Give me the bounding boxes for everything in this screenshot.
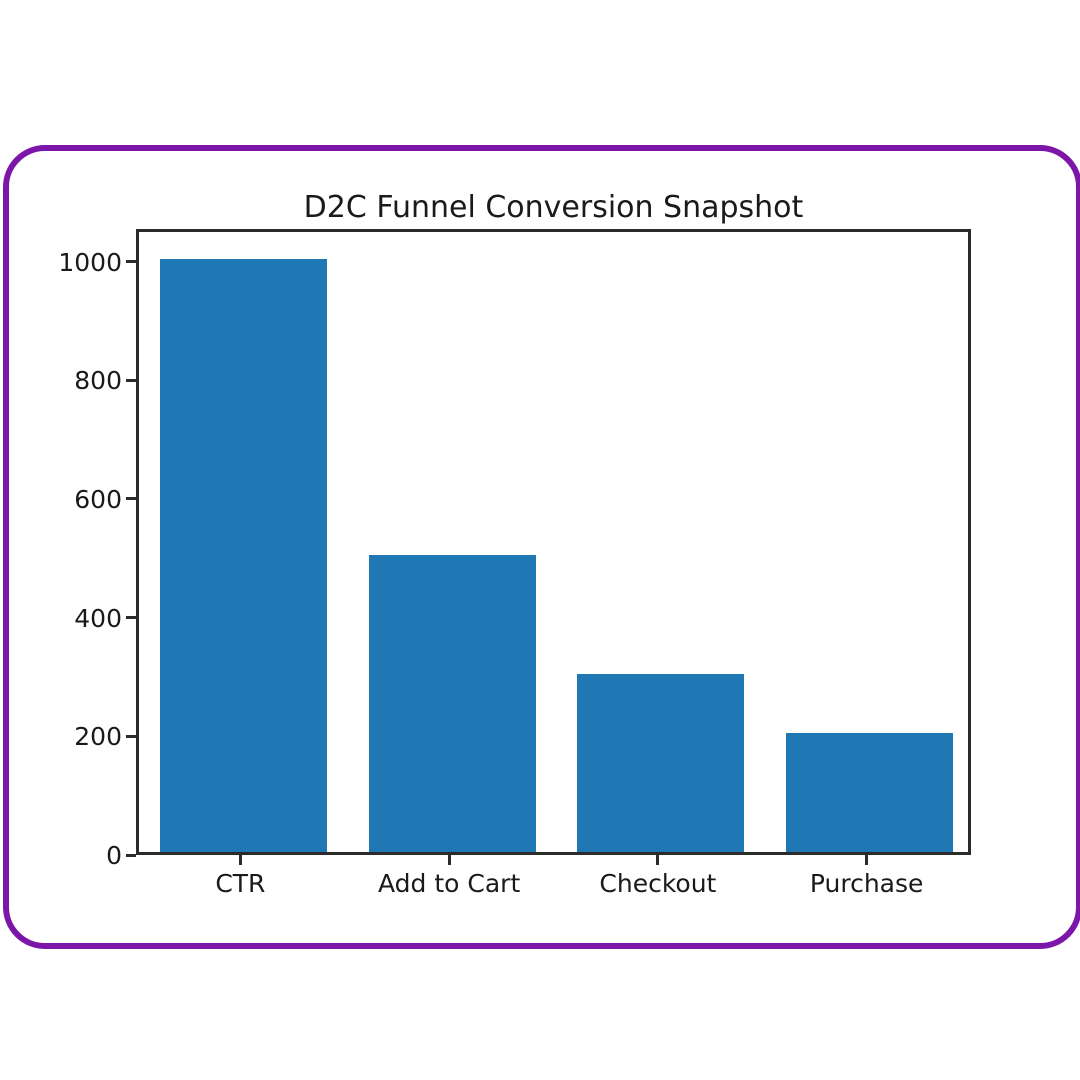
y-axis-tick-mark bbox=[126, 497, 136, 500]
bar bbox=[369, 555, 536, 852]
plot-area bbox=[139, 232, 968, 852]
y-axis-tick-label: 400 bbox=[74, 606, 122, 631]
y-axis-tick-label: 600 bbox=[74, 487, 122, 512]
bar bbox=[160, 259, 327, 852]
y-axis-tick-label: 800 bbox=[74, 368, 122, 393]
y-axis-tick-label: 0 bbox=[106, 843, 122, 868]
x-axis-tick-label: Checkout bbox=[599, 871, 716, 896]
x-axis-tick-mark bbox=[656, 855, 659, 865]
chart-title: D2C Funnel Conversion Snapshot bbox=[136, 190, 971, 225]
x-axis-tick-label: CTR bbox=[215, 871, 265, 896]
x-axis-tick-label: Add to Cart bbox=[378, 871, 520, 896]
bar-chart-figure: D2C Funnel Conversion Snapshot 020040060… bbox=[0, 0, 1080, 1080]
x-axis-tick-mark bbox=[239, 855, 242, 865]
x-axis-tick-mark bbox=[448, 855, 451, 865]
bar bbox=[577, 674, 744, 852]
y-axis-tick-label: 1000 bbox=[58, 250, 122, 275]
y-axis-tick-mark bbox=[126, 260, 136, 263]
y-axis-tick-labels: 02004006008001000 bbox=[0, 0, 122, 1080]
y-axis-tick-mark bbox=[126, 379, 136, 382]
x-axis-tick-label: Purchase bbox=[810, 871, 924, 896]
y-axis-tick-mark bbox=[126, 616, 136, 619]
y-axis-tick-mark bbox=[126, 735, 136, 738]
x-axis-tick-mark bbox=[865, 855, 868, 865]
plot-axes-frame bbox=[136, 229, 971, 855]
y-axis-tick-mark bbox=[126, 854, 136, 857]
screenshot-root: D2C Funnel Conversion Snapshot 020040060… bbox=[0, 0, 1080, 1080]
y-axis-tick-label: 200 bbox=[74, 724, 122, 749]
bar bbox=[786, 733, 953, 852]
